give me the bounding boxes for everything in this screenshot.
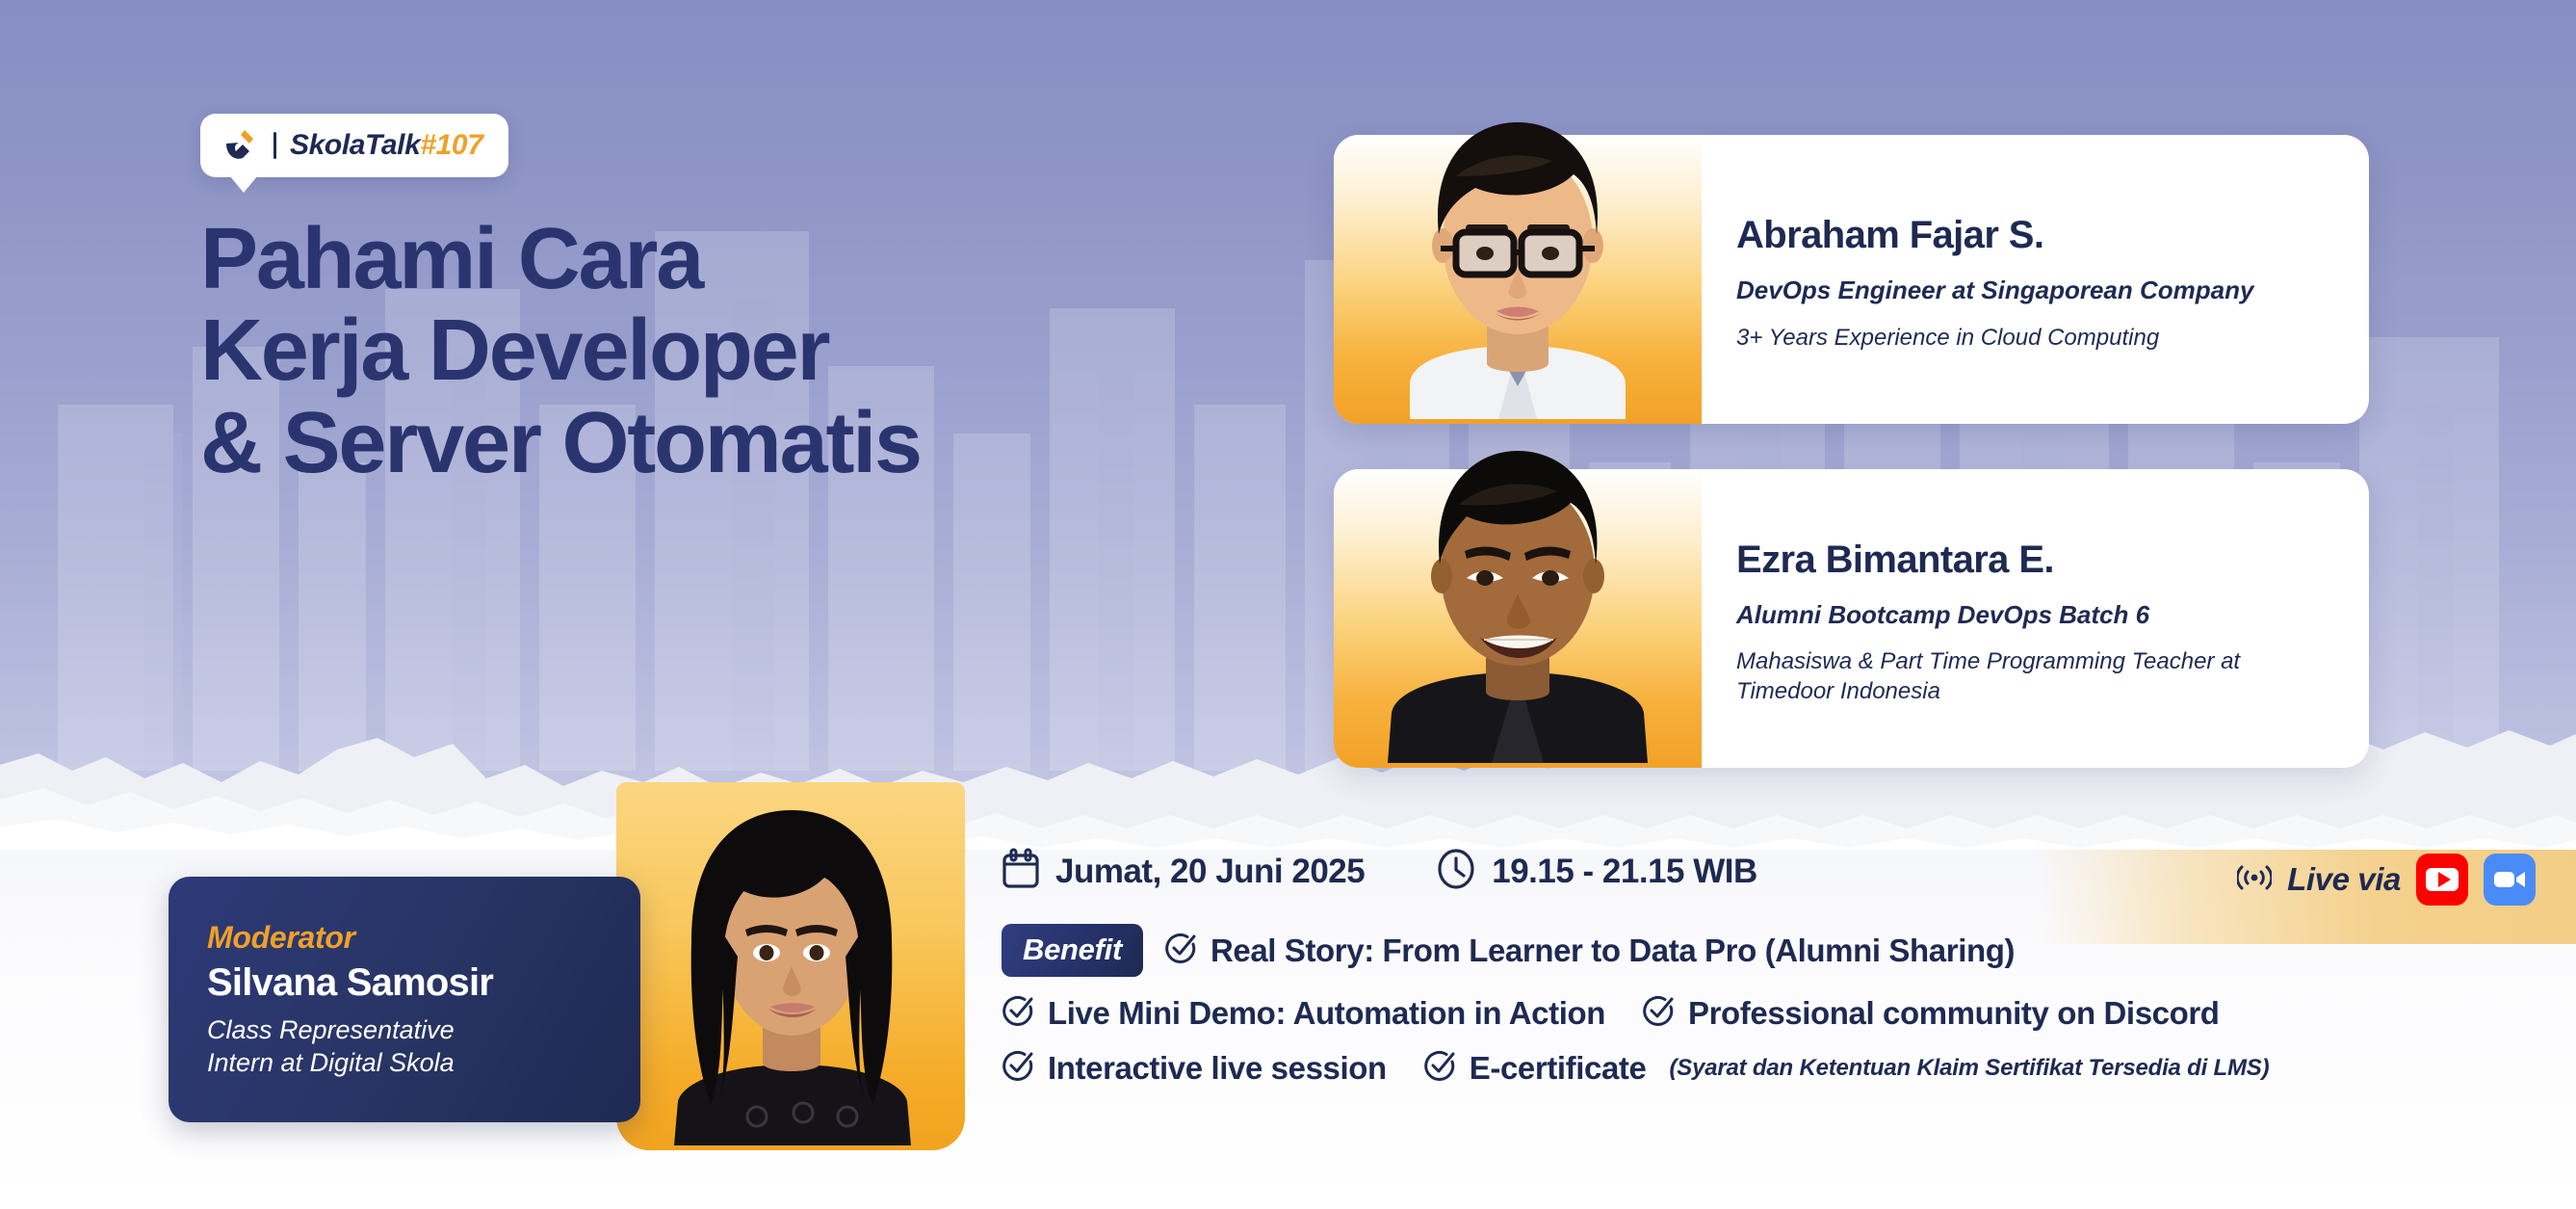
benefit-row-2: Live Mini Demo: Automation in Action Pro…	[1002, 994, 2465, 1032]
certificate-note: (Syarat dan Ketentuan Klaim Sertifikat T…	[1669, 1055, 2269, 1082]
benefit-row-1: Benefit Real Story: From Learner to Data…	[1002, 924, 2465, 977]
moderator-role-line-2: Intern at Digital Skola	[207, 1048, 455, 1077]
live-via-label: Live via	[2287, 861, 2401, 898]
benefit-text-0: Real Story: From Learner to Data Pro (Al…	[1210, 933, 2015, 969]
youtube-icon[interactable]	[2416, 854, 2468, 906]
speaker-photo-ezra	[1359, 414, 1677, 768]
check-circle-icon	[1642, 994, 1675, 1032]
moderator-card: Moderator Silvana Samosir Class Represen…	[169, 877, 640, 1122]
check-circle-icon	[1002, 1049, 1034, 1087]
skola-logo-icon	[221, 126, 260, 165]
broadcast-icon	[2237, 863, 2272, 897]
event-date: Jumat, 20 Juni 2025	[1002, 848, 1365, 895]
benefit-text-2: Professional community on Discord	[1688, 995, 2220, 1032]
benefit-item-0: Real Story: From Learner to Data Pro (Al…	[1164, 932, 2015, 969]
moderator-role-line-1: Class Representative	[207, 1015, 455, 1044]
benefit-badge: Benefit	[1002, 924, 1143, 977]
check-circle-icon	[1002, 994, 1034, 1032]
badge-text: SkolaTalk#107	[290, 129, 483, 162]
speaker-1-photo-tile	[1334, 135, 1702, 424]
speaker-card-2: Ezra Bimantara E. Alumni Bootcamp DevOps…	[1334, 469, 2369, 768]
speaker-photo-abraham	[1364, 80, 1672, 424]
event-time-text: 19.15 - 21.15 WIB	[1492, 853, 1757, 891]
event-time: 19.15 - 21.15 WIB	[1436, 848, 1757, 895]
moderator-name: Silvana Samosir	[207, 961, 602, 1005]
moderator-photo-silvana	[632, 782, 950, 1150]
webinar-poster: SkolaTalk#107 Pahami Cara Kerja Develope…	[0, 0, 2576, 1209]
skolatalk-badge: SkolaTalk#107	[200, 114, 508, 177]
speaker-card-1: Abraham Fajar S. DevOps Engineer at Sing…	[1334, 135, 2369, 424]
benefit-row-3: Interactive live session E-certificate (…	[1002, 1049, 2465, 1087]
benefit-item-1: Live Mini Demo: Automation in Action	[1002, 994, 1605, 1032]
benefit-item-4: E-certificate (Syarat dan Ketentuan Klai…	[1423, 1049, 2270, 1087]
live-via-group: Live via	[2237, 854, 2536, 906]
moderator-role: Class Representative Intern at Digital S…	[207, 1014, 602, 1079]
badge-separator	[273, 132, 276, 159]
title-line-3: & Server Otomatis	[200, 398, 921, 489]
benefit-item-2: Professional community on Discord	[1642, 994, 2220, 1032]
speaker-1-role: DevOps Engineer at Singaporean Company	[1736, 275, 2253, 306]
benefit-text-1: Live Mini Demo: Automation in Action	[1048, 995, 1605, 1032]
check-circle-icon	[1423, 1049, 1456, 1087]
page-title: Pahami Cara Kerja Developer & Server Oto…	[200, 214, 921, 489]
title-line-2: Kerja Developer	[200, 305, 921, 397]
speaker-2-role: Alumni Bootcamp DevOps Batch 6	[1736, 599, 2276, 631]
badge-label: SkolaTalk	[290, 129, 420, 161]
badge-number: #107	[420, 129, 482, 161]
benefit-item-3: Interactive live session	[1002, 1049, 1387, 1087]
clock-icon	[1436, 848, 1476, 895]
speaker-1-name: Abraham Fajar S.	[1736, 214, 2253, 257]
moderator-label: Moderator	[207, 920, 602, 956]
speaker-2-photo-tile	[1334, 469, 1702, 768]
event-date-text: Jumat, 20 Juni 2025	[1055, 853, 1365, 891]
zoom-icon[interactable]	[2484, 854, 2536, 906]
speaker-2-name: Ezra Bimantara E.	[1736, 539, 2314, 582]
speaker-2-experience: Mahasiswa & Part Time Programming Teache…	[1736, 646, 2314, 706]
calendar-icon	[1002, 848, 1040, 895]
moderator-photo-tile	[616, 782, 965, 1150]
benefit-text-3: Interactive live session	[1048, 1050, 1387, 1087]
benefit-list: Benefit Real Story: From Learner to Data…	[1002, 924, 2465, 1087]
title-line-1: Pahami Cara	[200, 214, 921, 305]
check-circle-icon	[1164, 932, 1197, 969]
benefit-text-4: E-certificate	[1470, 1050, 1647, 1087]
speaker-1-experience: 3+ Years Experience in Cloud Computing	[1736, 323, 2253, 353]
